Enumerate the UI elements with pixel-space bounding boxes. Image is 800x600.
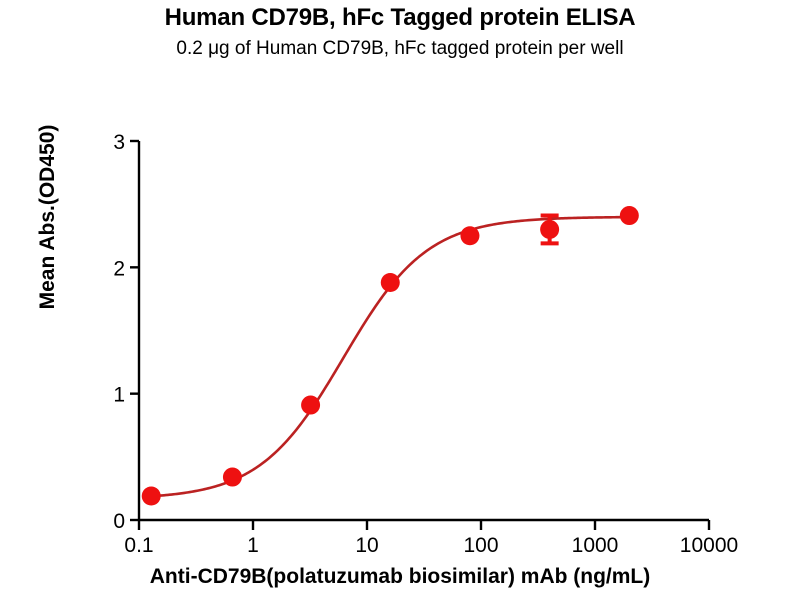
data-points: [142, 206, 639, 505]
y-tick-label: 2: [113, 257, 125, 280]
data-point-marker: [381, 273, 400, 292]
data-point-marker: [540, 220, 559, 239]
fit-curve: [151, 217, 629, 496]
y-tick-label: 1: [113, 384, 125, 407]
y-axis-label: Mean Abs.(OD450): [36, 87, 60, 347]
x-tick-label: 1: [247, 534, 259, 557]
x-axis-ticks: 0.1110100100010000: [124, 520, 738, 557]
data-point-marker: [142, 486, 161, 505]
x-tick-label: 1000: [572, 534, 619, 557]
plot-area: 0123 0.1110100100010000: [0, 0, 800, 600]
data-point-marker: [460, 226, 479, 245]
y-axis-ticks: 0123: [113, 131, 139, 533]
x-tick-label: 100: [463, 534, 498, 557]
y-tick-label: 0: [113, 510, 125, 533]
data-point-marker: [223, 468, 242, 487]
y-tick-label: 3: [113, 131, 125, 154]
data-point-marker: [301, 396, 320, 415]
x-axis-label: Anti-CD79B(polatuzumab biosimilar) mAb (…: [0, 565, 800, 589]
x-tick-label: 10000: [680, 534, 738, 557]
chart-page: Human CD79B, hFc Tagged protein ELISA 0.…: [0, 0, 800, 600]
data-point-marker: [620, 206, 639, 225]
x-tick-label: 10: [355, 534, 378, 557]
x-tick-label: 0.1: [124, 534, 153, 557]
